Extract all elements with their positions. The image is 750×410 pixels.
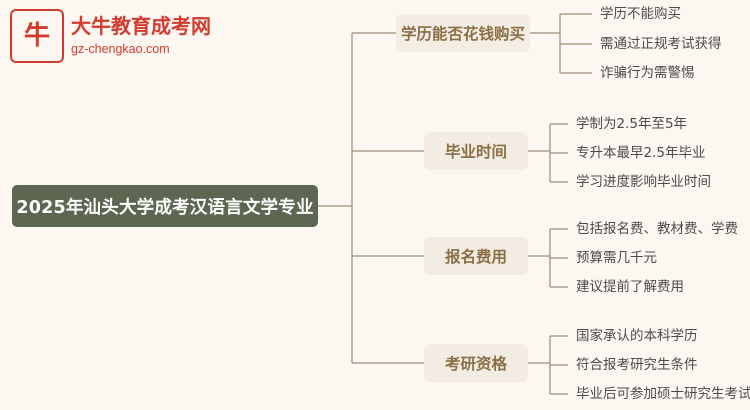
mindmap-leaf-1-2[interactable]: 学习进度影响毕业时间 (576, 176, 711, 190)
mindmap-branch-2[interactable]: 报名费用 (424, 237, 528, 275)
mindmap-leaf-2-1[interactable]: 预算需几千元 (576, 252, 657, 266)
logo-text: 大牛教育成考网 gz-chengkao.com (71, 15, 211, 57)
logo-mark-glyph: 牛 (24, 23, 50, 49)
mindmap-branch-1[interactable]: 毕业时间 (424, 132, 528, 170)
mindmap-leaf-2-2[interactable]: 建议提前了解费用 (576, 281, 684, 295)
site-logo: 牛 大牛教育成考网 gz-chengkao.com (10, 8, 190, 64)
mindmap-leaf-3-1[interactable]: 符合报考研究生条件 (576, 359, 698, 373)
mindmap-leaf-0-2[interactable]: 诈骗行为需警惕 (600, 67, 695, 81)
mindmap-branch-3[interactable]: 考研资格 (424, 344, 528, 382)
mindmap-branch-0[interactable]: 学历能否花钱购买 (396, 14, 530, 52)
logo-title: 大牛教育成考网 (71, 15, 211, 38)
mindmap-leaf-1-0[interactable]: 学制为2.5年至5年 (576, 118, 687, 132)
logo-mark-icon: 牛 (10, 9, 64, 63)
mindmap-leaf-2-0[interactable]: 包括报名费、教材费、学费 (576, 223, 738, 237)
logo-url: gz-chengkao.com (71, 41, 211, 57)
mindmap-leaf-0-1[interactable]: 需通过正规考试获得 (600, 38, 722, 52)
mindmap-root-node[interactable]: 2025年汕头大学成考汉语言文学专业 (12, 185, 318, 227)
mindmap-leaf-1-1[interactable]: 专升本最早2.5年毕业 (576, 147, 705, 161)
mindmap-leaf-0-0[interactable]: 学历不能购买 (600, 8, 681, 22)
mindmap-canvas: 牛 大牛教育成考网 gz-chengkao.com 2025年汕头大学成考汉语言… (0, 0, 750, 410)
mindmap-leaf-3-2[interactable]: 毕业后可参加硕士研究生考试 (576, 388, 750, 402)
mindmap-leaf-3-0[interactable]: 国家承认的本科学历 (576, 330, 698, 344)
